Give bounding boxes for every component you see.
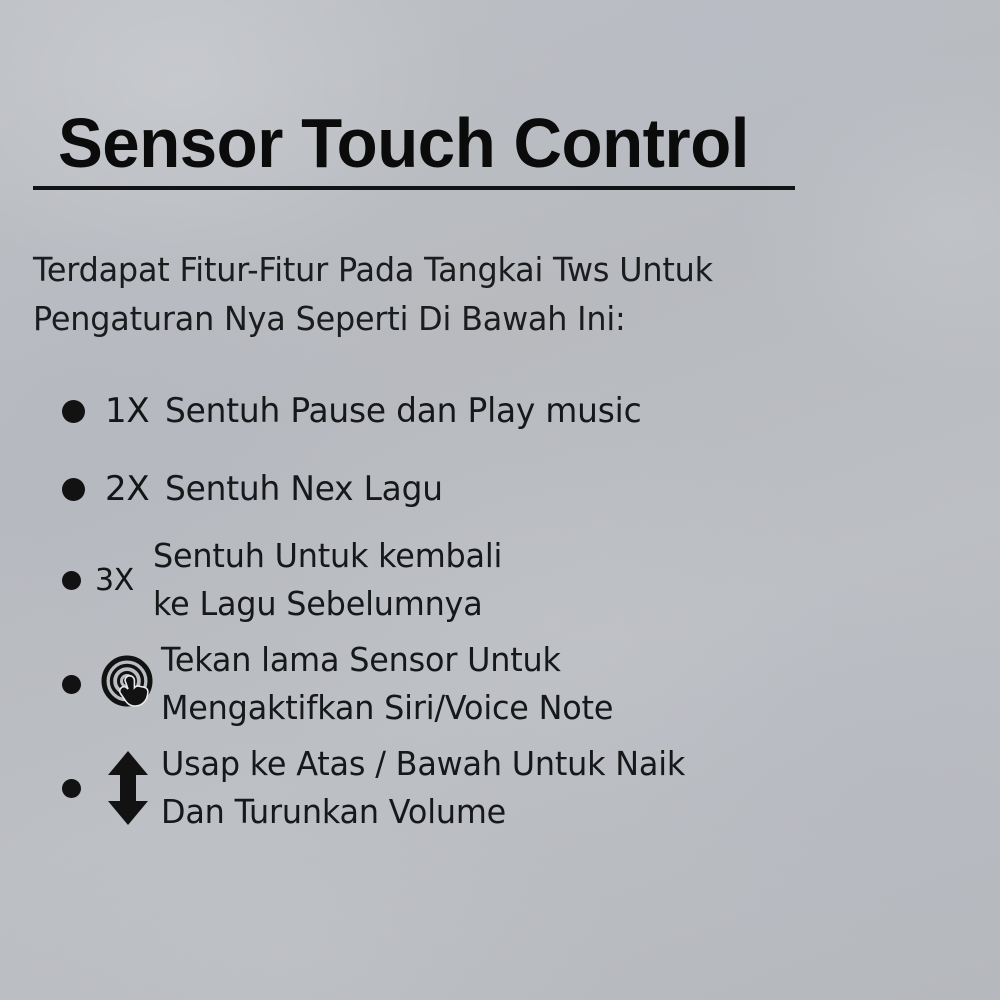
feature-text-line-2: Mengaktifkan Siri/Voice Note	[161, 684, 613, 732]
list-item: 2X Sentuh Nex Lagu	[62, 450, 962, 528]
poster-canvas: Sensor Touch Control Terdapat Fitur-Fitu…	[0, 0, 1000, 1000]
tap-count-label: 1X	[105, 391, 165, 431]
list-item: 1X Sentuh Pause dan Play music	[62, 372, 962, 450]
intro-line-1: Terdapat Fitur-Fitur Pada Tangkai Tws Un…	[33, 245, 824, 294]
bullet-icon	[62, 675, 81, 694]
title-block: Sensor Touch Control	[33, 104, 833, 190]
feature-text-line-1: Usap ke Atas / Bawah Untuk Naik	[161, 740, 685, 788]
up-down-arrow-icon	[95, 749, 161, 827]
bullet-icon	[62, 400, 85, 423]
tap-gesture-icon	[95, 654, 161, 714]
feature-text: Usap ke Atas / Bawah Untuk Naik Dan Turu…	[161, 740, 685, 836]
bullet-icon	[62, 779, 81, 798]
feature-text: Tekan lama Sensor Untuk Mengaktifkan Sir…	[161, 636, 613, 732]
list-item: Usap ke Atas / Bawah Untuk Naik Dan Turu…	[62, 736, 962, 840]
feature-text-line-2: Dan Turunkan Volume	[161, 788, 685, 836]
list-item: 3X Sentuh Untuk kembali ke Lagu Sebelumn…	[62, 528, 962, 632]
feature-text: Sentuh Pause dan Play music	[165, 391, 641, 431]
feature-text: Sentuh Nex Lagu	[165, 469, 443, 509]
title-underline-rule	[33, 186, 795, 190]
feature-text-line-2: ke Lagu Sebelumnya	[153, 580, 502, 628]
bullet-icon	[62, 478, 85, 501]
page-title: Sensor Touch Control	[33, 104, 801, 182]
tap-count-label: 3X	[95, 563, 153, 598]
feature-text-line-1: Sentuh Nex Lagu	[165, 469, 443, 509]
tap-count-label: 2X	[105, 469, 165, 509]
intro-paragraph: Terdapat Fitur-Fitur Pada Tangkai Tws Un…	[33, 245, 824, 343]
feature-text: Sentuh Untuk kembali ke Lagu Sebelumnya	[153, 532, 502, 628]
bullet-icon	[62, 571, 81, 590]
intro-line-2: Pengaturan Nya Seperti Di Bawah Ini:	[33, 294, 824, 343]
feature-text-line-1: Tekan lama Sensor Untuk	[161, 636, 613, 684]
feature-list: 1X Sentuh Pause dan Play music 2X Sentuh…	[62, 372, 962, 840]
feature-text-line-1: Sentuh Untuk kembali	[153, 532, 502, 580]
list-item: Tekan lama Sensor Untuk Mengaktifkan Sir…	[62, 632, 962, 736]
feature-text-line-1: Sentuh Pause dan Play music	[165, 391, 641, 431]
